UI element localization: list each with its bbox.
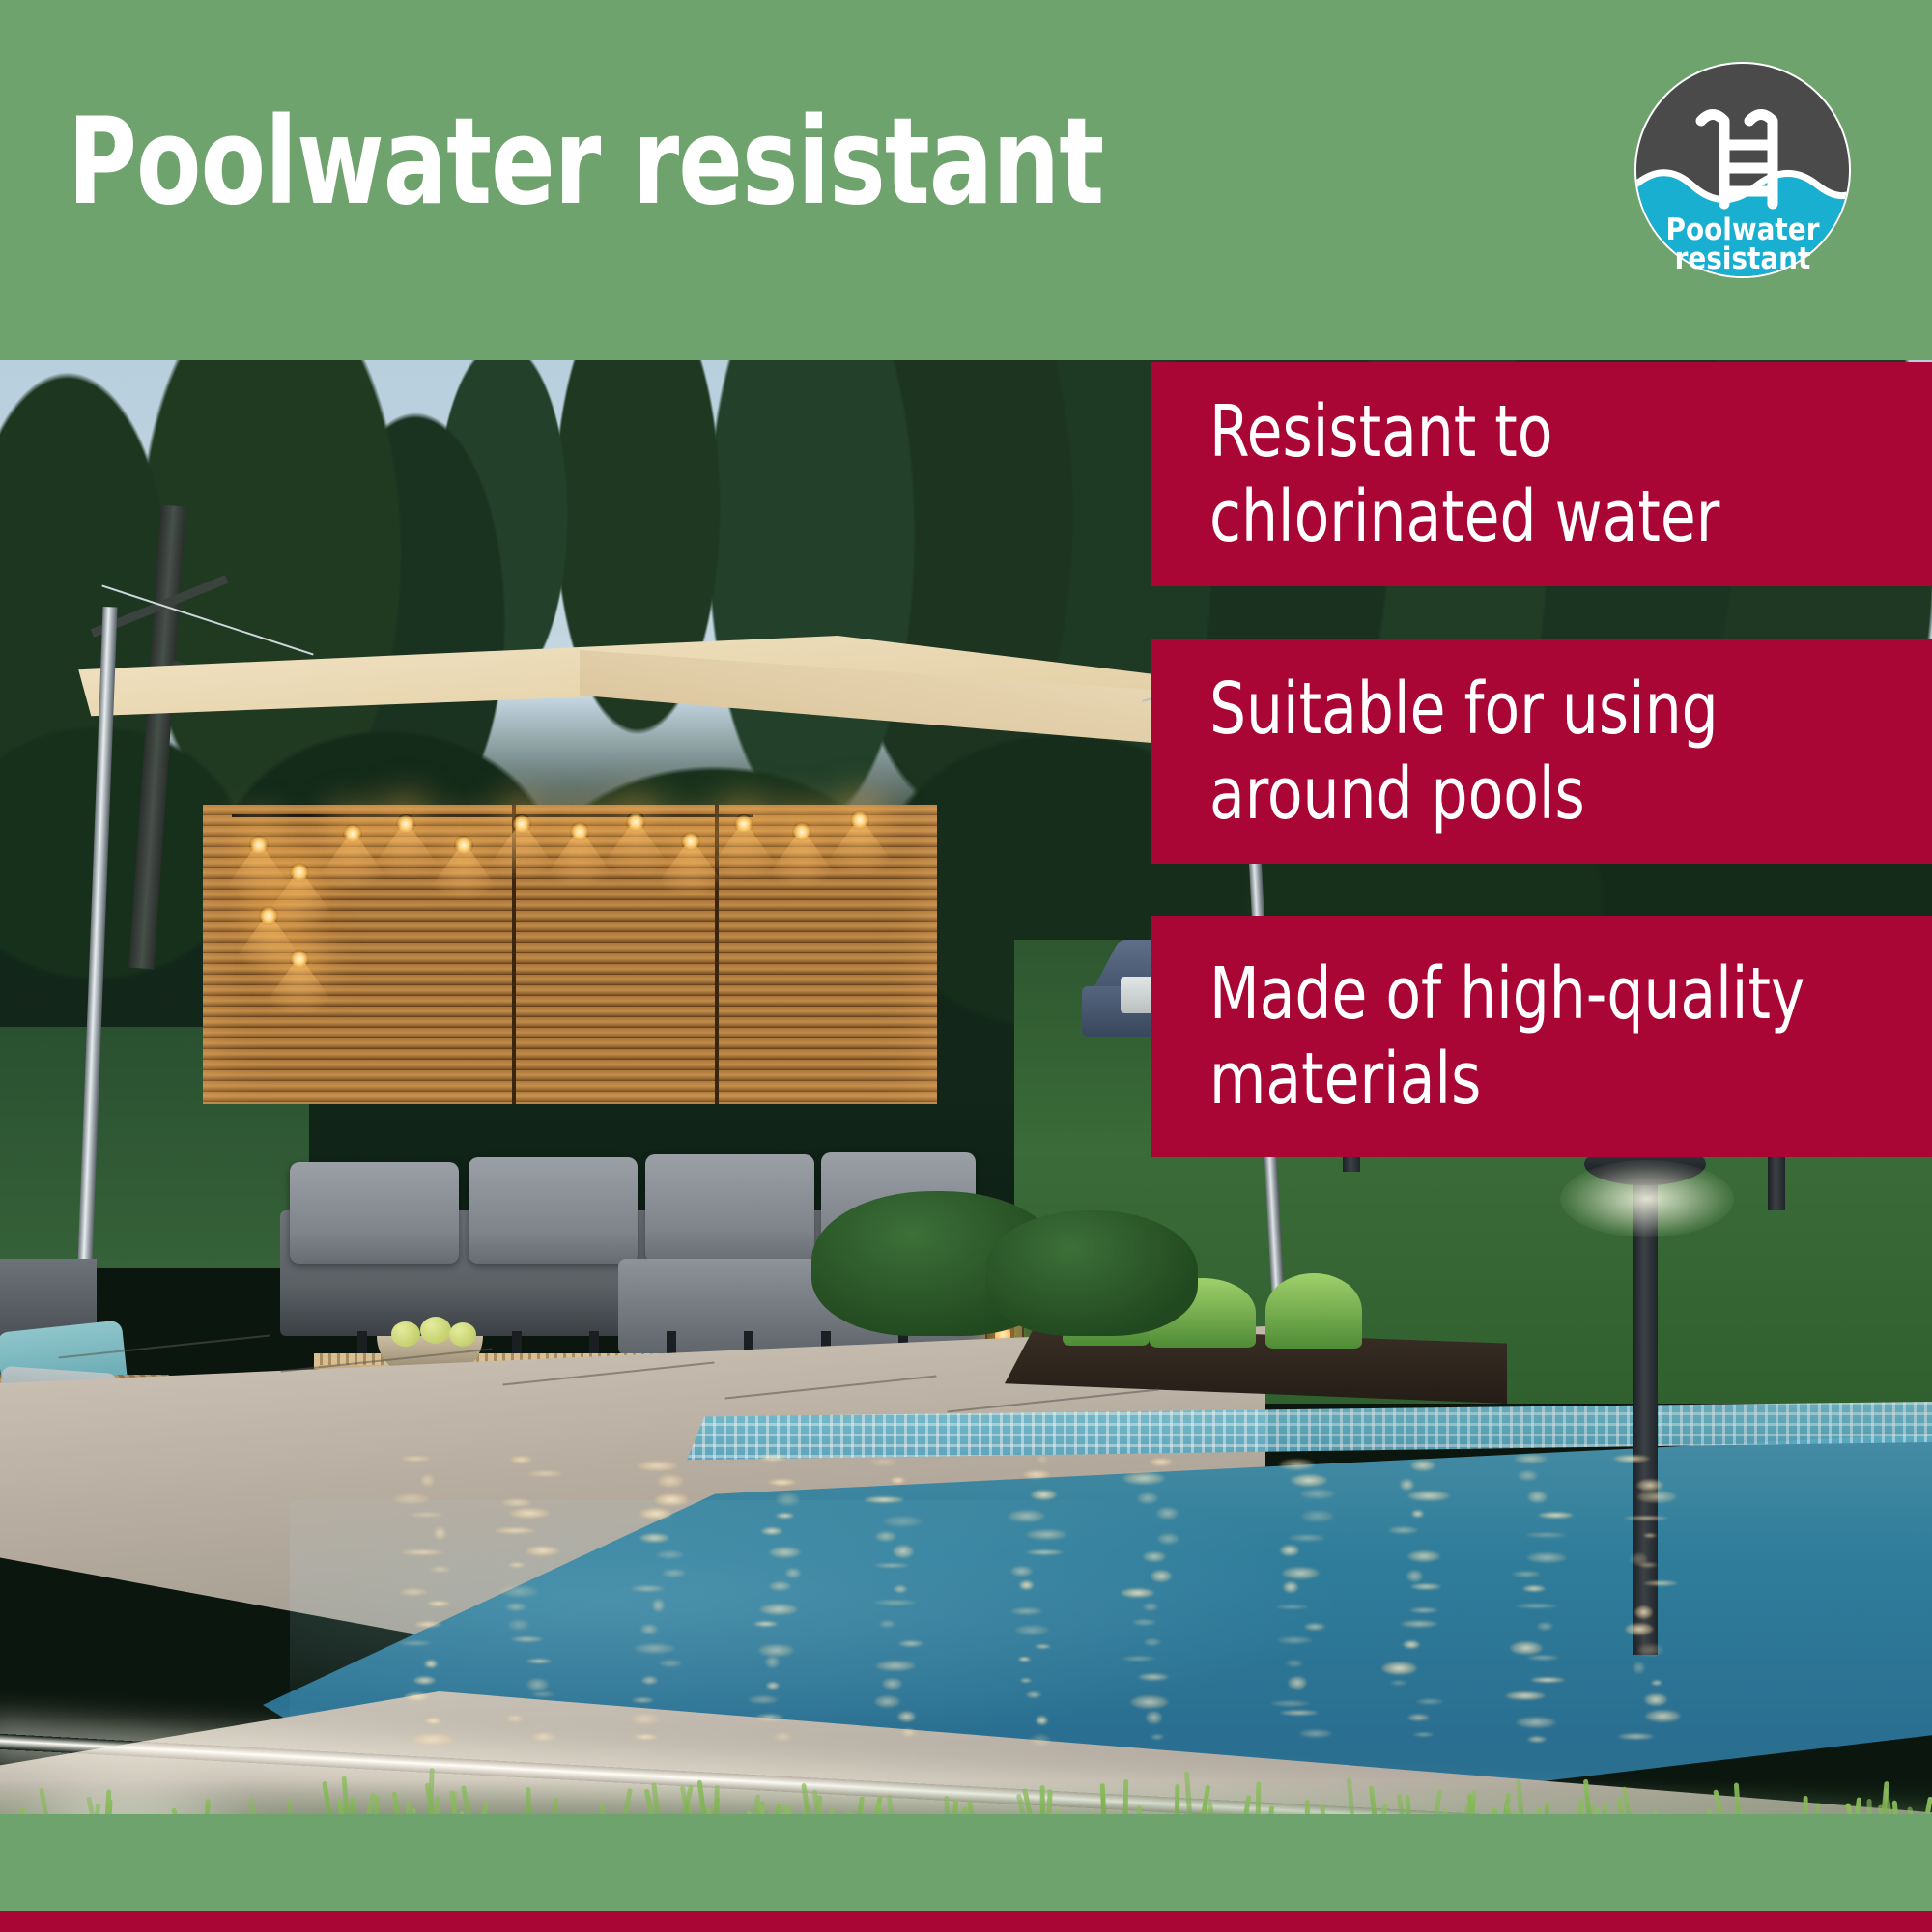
water-sparkle [639,1508,672,1520]
water-sparkle [883,1516,923,1527]
water-sparkle [510,1456,532,1463]
water-sparkle [1527,1736,1547,1743]
water-sparkle [1037,1455,1048,1463]
water-sparkle [427,1601,450,1606]
water-sparkle [434,1526,447,1539]
water-sparkle [1279,1459,1314,1471]
water-sparkle [1516,1717,1556,1728]
water-sparkle [495,1527,535,1534]
water-sparkle [1288,1676,1307,1690]
callout-text-2: Suitable for using around pools [1209,667,1839,837]
water-sparkle [399,1588,429,1596]
water-sparkle [508,1562,526,1567]
water-sparkle [753,1621,778,1627]
water-sparkle [1144,1638,1161,1645]
water-sparkle [1008,1510,1045,1522]
grass-blade [1040,1785,1045,1814]
callout-text-1: Resistant to chlorinated water [1209,389,1839,559]
water-sparkle [634,1734,658,1739]
water-sparkle [1030,1734,1051,1747]
fruit [420,1317,451,1344]
water-sparkle [639,1533,669,1544]
water-sparkle [1026,1691,1041,1698]
water-sparkle [1020,1678,1032,1683]
water-sparkle [1143,1551,1166,1562]
water-sparkle [785,1568,801,1578]
sofa-cushion [290,1162,459,1264]
water-sparkle [1390,1680,1407,1686]
water-sparkle [1381,1662,1417,1674]
string-light-bulb [343,824,362,843]
water-sparkle [412,1733,454,1746]
water-sparkle [657,1474,684,1488]
water-sparkle [879,1620,895,1628]
string-light-wire [232,814,753,817]
string-light-bulb [626,812,645,832]
water-sparkle [1151,1570,1172,1581]
badge-line2: resistant [1675,241,1811,276]
water-sparkle [508,1619,529,1631]
water-sparkle [652,1599,665,1612]
water-sparkle [1409,1607,1438,1613]
wall-seam [715,805,719,1104]
fruit [391,1321,420,1347]
water-sparkle [1637,1643,1663,1657]
water-sparkle [1522,1585,1546,1592]
string-light-bulb [512,814,531,834]
water-sparkle [656,1550,684,1559]
water-sparkle [526,1678,549,1690]
water-sparkle [1014,1625,1050,1635]
water-sparkle [1289,1534,1326,1542]
string-light-bulb [249,836,269,855]
water-sparkle [659,1660,682,1668]
water-sparkle [1300,1489,1336,1499]
sofa-cushion [645,1154,814,1263]
water-sparkle [1403,1640,1420,1649]
water-sparkle [1634,1605,1653,1619]
water-sparkle [1031,1490,1057,1500]
water-sparkle [1388,1526,1418,1534]
water-sparkle [662,1569,686,1577]
water-sparkle [1280,1710,1319,1716]
water-sparkle [526,1659,552,1663]
water-sparkle [1304,1623,1326,1632]
water-sparkle [637,1461,678,1471]
water-sparkle [1406,1570,1423,1582]
water-sparkle [531,1732,555,1742]
water-sparkle [769,1581,791,1591]
callout-box-2: Suitable for using around pools [1151,639,1932,864]
water-sparkle [414,1621,441,1628]
water-sparkle [501,1498,532,1507]
fruit [449,1322,476,1347]
water-sparkle [1410,1583,1440,1590]
water-sparkle [1537,1622,1553,1631]
water-sparkle [1411,1510,1424,1518]
water-sparkle [1023,1470,1051,1479]
water-sparkle [894,1585,907,1592]
water-sparkle [1026,1529,1067,1540]
string-light-bulb [454,836,473,855]
water-sparkle [392,1493,430,1504]
water-sparkle [1400,1479,1414,1491]
water-sparkle [1651,1680,1663,1687]
water-sparkle [1633,1662,1645,1674]
bollard-light-glow [1560,1160,1734,1237]
water-sparkle [748,1695,780,1705]
water-sparkle [425,1718,440,1724]
water-sparkle [761,1527,781,1535]
water-sparkle [1130,1695,1170,1709]
water-sparkle [527,1470,563,1477]
water-sparkle [654,1493,689,1505]
water-sparkle [766,1682,780,1690]
string-light-bulb [259,906,278,925]
water-sparkle [1018,1657,1030,1662]
water-sparkle [509,1508,550,1518]
water-sparkle [1282,1567,1320,1578]
water-sparkle [1275,1605,1309,1609]
water-sparkle [1151,1734,1164,1740]
water-sparkle [531,1691,554,1697]
water-sparkle [870,1458,898,1466]
water-sparkle [1132,1619,1155,1626]
water-sparkle [776,1513,794,1519]
water-sparkle [1299,1729,1332,1738]
water-sparkle [1636,1479,1663,1491]
water-sparkle [1010,1566,1034,1577]
water-sparkle [1618,1733,1654,1740]
footer-green-bar [0,1814,1932,1911]
water-sparkle [632,1697,654,1702]
header-banner: Poolwater resistant [0,0,1932,360]
poolwater-resistant-badge: Poolwater resistant [1633,60,1853,280]
callout-text-3: Made of high-quality materials [1209,952,1839,1122]
water-sparkle [875,1531,897,1542]
water-sparkle [1026,1549,1064,1556]
water-sparkle [1019,1580,1034,1590]
water-sparkle [1638,1562,1658,1568]
water-sparkle [511,1636,543,1642]
water-sparkle [630,1713,660,1725]
water-sparkle [1143,1603,1158,1611]
water-sparkle [1510,1641,1543,1654]
water-sparkle [631,1585,665,1592]
water-sparkle [1122,1472,1166,1485]
water-sparkle [1538,1512,1574,1519]
ornamental-grass-tuft [1265,1273,1362,1349]
water-sparkle [1156,1507,1179,1520]
water-sparkle [759,1604,798,1615]
poolwater-resistant-poster: Poolwater resistant [0,0,1932,1932]
water-sparkle [1121,1588,1154,1598]
string-light-bulb [792,822,811,841]
water-sparkle [506,1715,524,1722]
water-sparkle [1514,1454,1548,1463]
water-sparkle [1122,1656,1155,1662]
water-sparkle [1283,1581,1297,1593]
water-sparkle [1527,1655,1558,1660]
water-sparkle [1527,1491,1548,1504]
water-sparkle [1407,1491,1451,1501]
water-sparkle [864,1496,904,1503]
water-sparkle [1035,1644,1051,1649]
water-sparkle [1643,1533,1658,1538]
water-sparkle [410,1512,443,1518]
water-sparkle [1400,1620,1438,1629]
string-light-bulb [681,832,700,851]
water-sparkle [765,1656,780,1668]
water-sparkle [1525,1532,1567,1538]
water-sparkle [776,1492,800,1506]
water-sparkle [399,1640,432,1646]
water-sparkle [499,1585,538,1598]
water-sparkle [1291,1474,1327,1487]
water-sparkle [882,1678,902,1690]
water-sparkle [1270,1700,1311,1707]
water-sparkle [755,1714,782,1721]
water-sparkle [1530,1677,1564,1683]
water-sparkle [1636,1491,1677,1502]
water-sparkle [1410,1460,1435,1471]
water-sparkle [1146,1711,1162,1723]
water-sparkle [1137,1492,1158,1504]
water-sparkle [1036,1716,1048,1725]
water-sparkle [1301,1510,1334,1523]
water-sparkle [1138,1673,1169,1681]
water-sparkle [769,1547,801,1558]
page-title: Poolwater resistant [68,102,1103,222]
water-sparkle [897,1711,917,1722]
water-sparkle [641,1676,659,1685]
water-sparkle [1280,1545,1298,1556]
water-sparkle [875,1661,916,1671]
water-sparkle [430,1566,451,1573]
string-light-bulb [850,810,869,830]
water-sparkle [1512,1571,1541,1577]
water-sparkle [774,1732,792,1742]
water-sparkle [526,1546,560,1556]
water-sparkle [1625,1623,1654,1635]
shrub [985,1210,1198,1336]
callout-box-1: Resistant to chlorinated water [1151,362,1932,586]
string-light-bulb [396,814,415,834]
water-sparkle [1286,1660,1303,1668]
water-sparkle [893,1545,914,1558]
string-light-bulb [290,950,309,969]
water-sparkle [1526,1552,1567,1563]
water-sparkle [758,1454,787,1462]
water-sparkle [1416,1698,1443,1706]
water-sparkle [1643,1580,1678,1585]
water-sparkle [424,1660,438,1668]
water-sparkle [874,1600,917,1605]
water-sparkle [1407,1714,1430,1721]
callout-box-3: Made of high-quality materials [1151,916,1932,1157]
footer-accent-bar [0,1911,1932,1932]
water-sparkle [401,1549,443,1556]
grass-blades [0,360,1,361]
water-sparkle [1644,1693,1667,1706]
water-sparkle [1407,1550,1440,1561]
sofa-cushion [469,1157,638,1264]
water-sparkle [898,1640,923,1648]
water-sparkle [1010,1607,1042,1614]
water-sparkle [640,1624,658,1634]
water-sparkle [1150,1458,1172,1467]
water-sparkle [874,1695,901,1708]
water-sparkle [1613,1455,1650,1463]
water-sparkle [1505,1691,1546,1700]
water-sparkle [768,1479,796,1486]
water-sparkle [1157,1533,1179,1545]
water-sparkle [1518,1470,1538,1481]
water-sparkle [413,1676,436,1685]
water-sparkle [1277,1636,1314,1644]
water-sparkle [1645,1710,1681,1722]
water-sparkle [404,1692,430,1701]
water-sparkle [420,1474,435,1487]
water-sparkle [901,1728,917,1737]
string-light-bulb [570,822,589,841]
water-sparkle [505,1603,526,1611]
water-sparkle [758,1644,795,1657]
string-light-bulb [290,863,309,882]
string-light-bulb [734,814,753,834]
water-sparkle [634,1643,675,1653]
